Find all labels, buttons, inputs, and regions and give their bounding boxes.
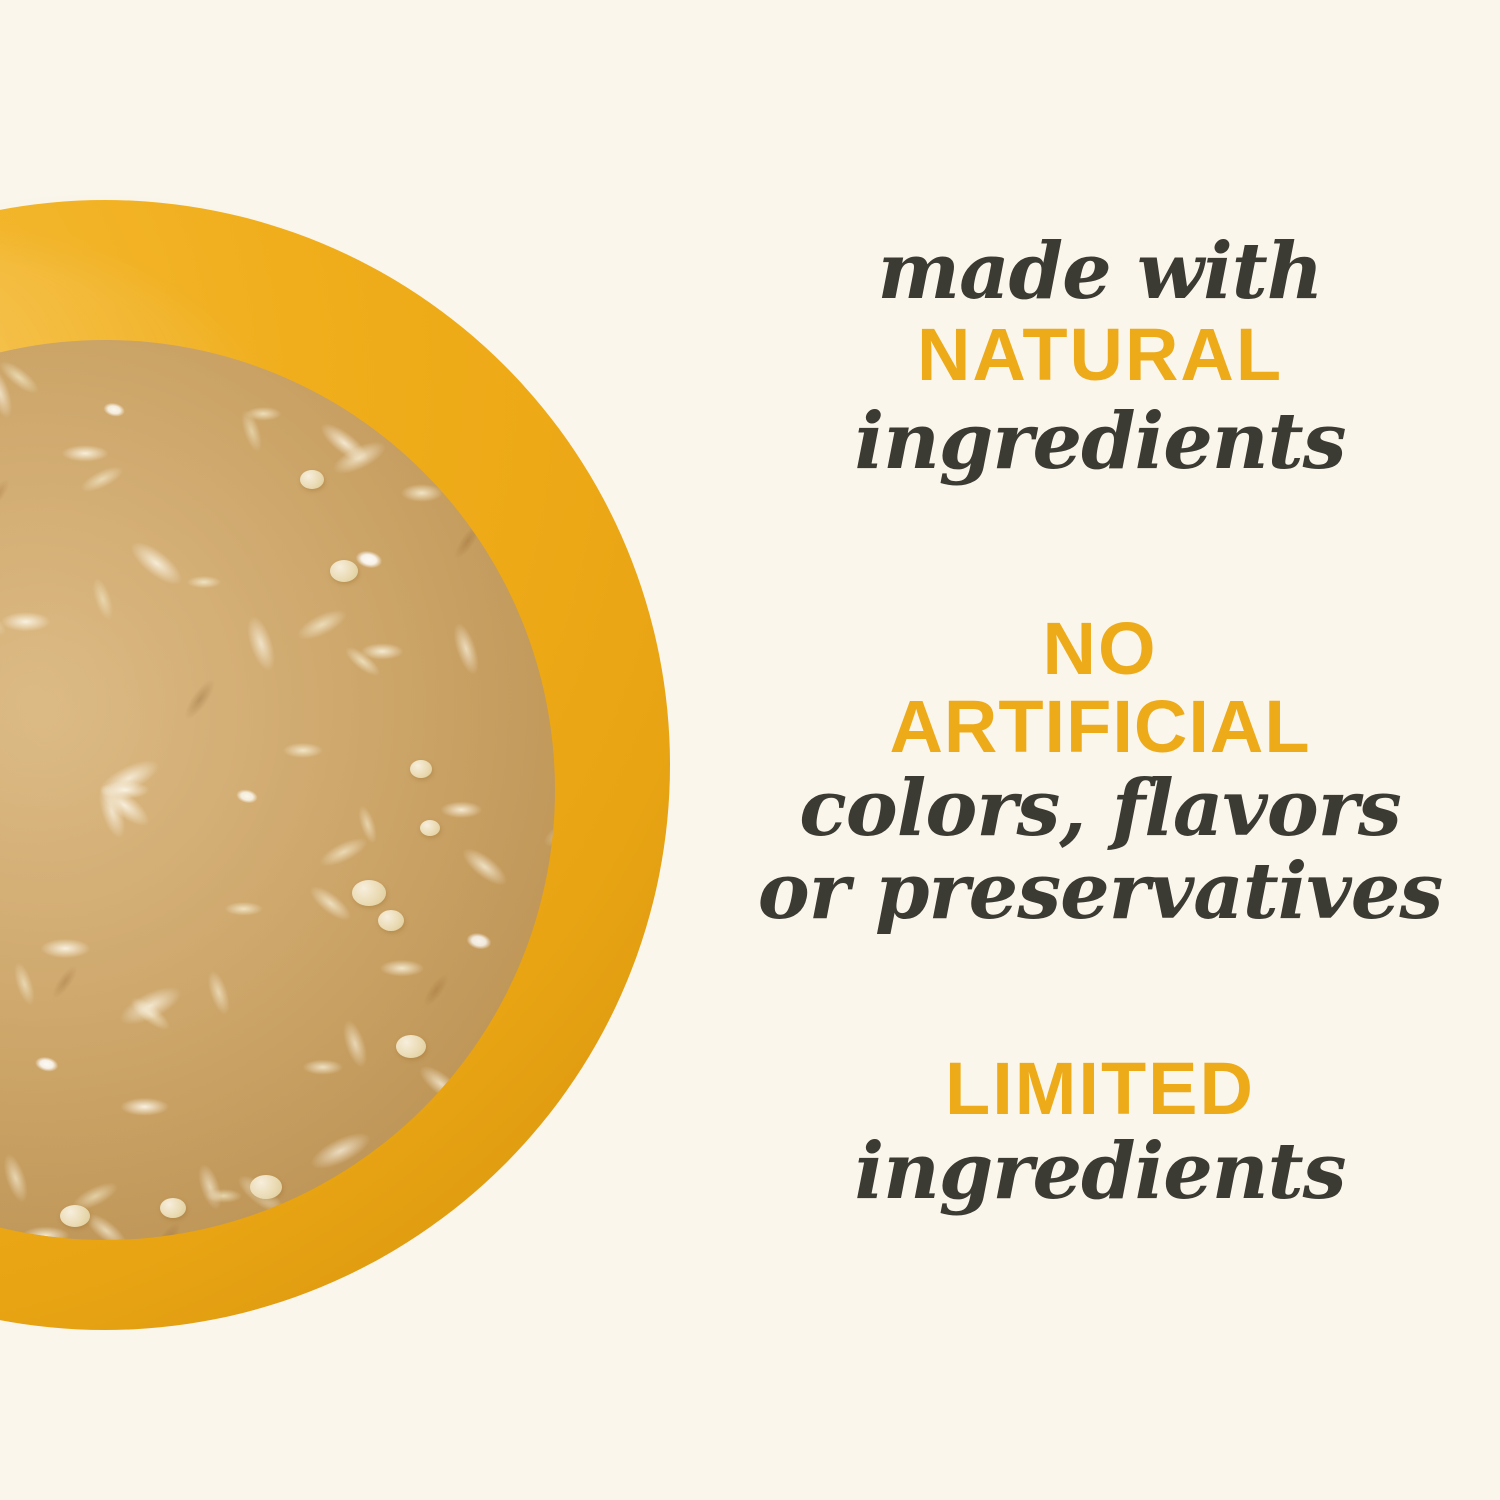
food-crumb (352, 880, 386, 906)
food-crumb (378, 910, 404, 931)
food-crumb (410, 760, 432, 778)
claim-no-artificial-colors-flavors-preservatives: NO ARTIFICIAL colors, flavors or preserv… (700, 612, 1500, 931)
food-crumb (396, 1035, 426, 1058)
claim-line-highlight: NO (700, 612, 1500, 686)
food-crumb (300, 470, 324, 489)
shredded-chicken-and-rice-food (0, 340, 555, 1240)
food-crumb (250, 1175, 282, 1199)
claim-line: ingredients (700, 401, 1500, 484)
claim-line-highlight: NATURAL (700, 310, 1500, 400)
claim-line: colors, flavors (700, 767, 1500, 851)
food-crumb (160, 1198, 186, 1218)
food-crumb (60, 1205, 90, 1227)
claim-line: ingredients (700, 1126, 1500, 1218)
claim-line-highlight: ARTIFICIAL (700, 686, 1500, 767)
claim-line-highlight: LIMITED (700, 1052, 1500, 1126)
claim-made-with-natural-ingredients: made with NATURAL ingredients (700, 234, 1500, 483)
claims-panel: made with NATURAL ingredients NO ARTIFIC… (700, 0, 1500, 1500)
food-crumb (330, 560, 358, 582)
claim-limited-ingredients: LIMITED ingredients (700, 1052, 1500, 1218)
claim-line: or preservatives (700, 852, 1500, 932)
product-marketing-image: made with NATURAL ingredients NO ARTIFIC… (0, 0, 1500, 1500)
food-crumb (420, 820, 440, 836)
claim-line: made with (700, 234, 1500, 310)
